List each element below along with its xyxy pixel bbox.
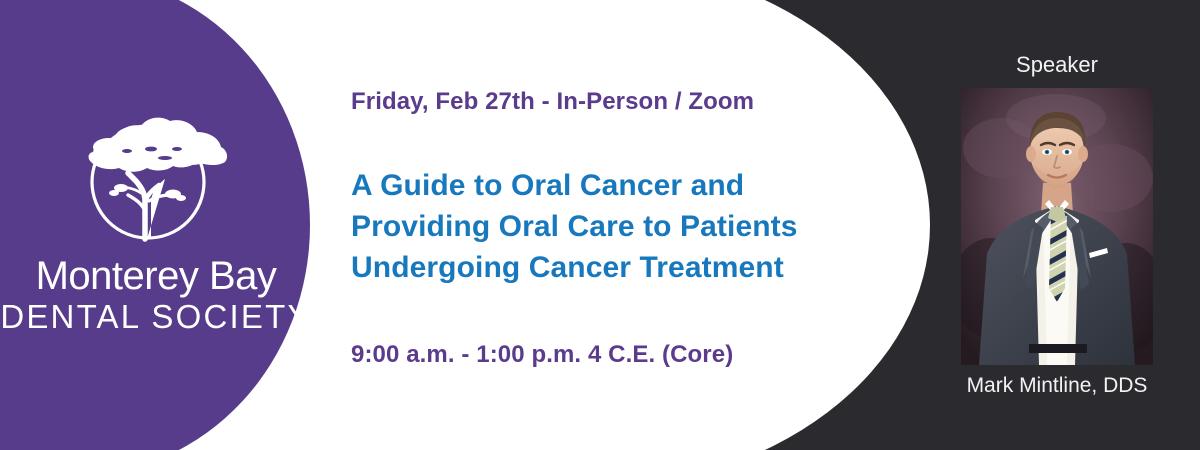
speaker-panel: Speaker (947, 0, 1167, 450)
event-title-line: A Guide to Oral Cancer and (351, 165, 911, 206)
cypress-tree-in-circle-icon (81, 105, 231, 245)
event-title-line: Undergoing Cancer Treatment (351, 247, 911, 288)
society-logo: Monterey Bay DENTAL SOCIETY (0, 105, 312, 335)
event-time-line: 9:00 a.m. - 1:00 p.m. 4 C.E. (Core) (351, 341, 733, 369)
event-banner: Monterey Bay DENTAL SOCIETY Friday, Feb … (0, 0, 1200, 450)
speaker-headshot-photo (961, 88, 1153, 365)
speaker-name: Mark Mintline, DDS (937, 374, 1177, 398)
event-date-line: Friday, Feb 27th - In-Person / Zoom (351, 88, 754, 116)
logo-name-text: Monterey Bay (0, 253, 312, 299)
event-details: Friday, Feb 27th - In-Person / Zoom A Gu… (351, 0, 911, 450)
logo-subtitle-text: DENTAL SOCIETY (0, 299, 312, 335)
event-title: A Guide to Oral Cancer and Providing Ora… (351, 165, 911, 288)
speaker-label: Speaker (947, 52, 1167, 78)
event-title-line: Providing Oral Care to Patients (351, 206, 911, 247)
